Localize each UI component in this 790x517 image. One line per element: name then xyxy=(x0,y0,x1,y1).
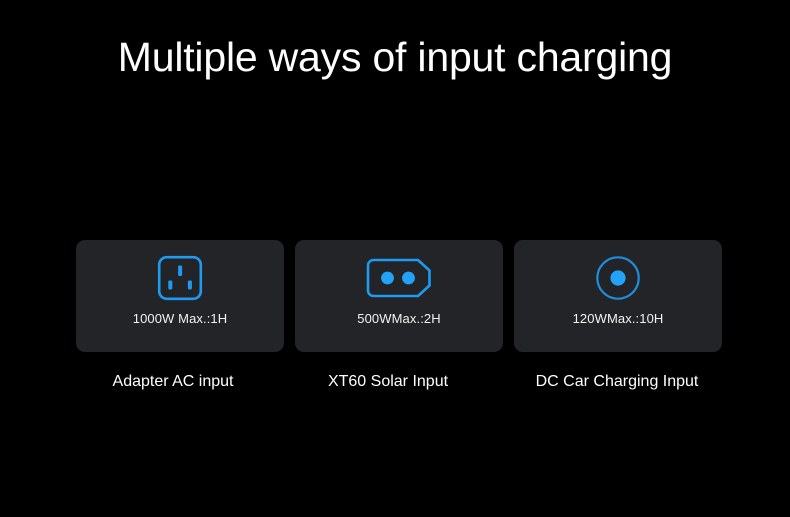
charging-card-value: 1000W Max.:1H xyxy=(133,311,228,326)
charging-card-adapter-ac[interactable]: 1000W Max.:1H xyxy=(76,240,284,352)
charging-caption-adapter-ac: Adapter AC input xyxy=(113,370,234,394)
uk-ac-socket-icon xyxy=(157,254,203,302)
page-title: Multiple ways of input charging xyxy=(0,28,790,86)
charging-caption-xt60-solar: XT60 Solar Input xyxy=(328,370,448,394)
charging-card-xt60-solar[interactable]: 500WMax.:2H xyxy=(295,240,503,352)
charging-card-value: 500WMax.:2H xyxy=(357,311,440,326)
charging-caption-dc-car: DC Car Charging Input xyxy=(536,370,699,394)
input-charging-section: Multiple ways of input charging 1000W Ma… xyxy=(0,0,790,517)
xt60-connector-icon xyxy=(366,254,432,302)
dc-car-socket-icon xyxy=(595,254,641,302)
charging-card-value: 120WMax.:10H xyxy=(573,311,664,326)
charging-card-dc-car[interactable]: 120WMax.:10H xyxy=(514,240,722,352)
charging-captions-row: Adapter AC input XT60 Solar Input DC Car… xyxy=(76,370,722,400)
charging-options-row: 1000W Max.:1H 500WMax.:2H 120WMax.:10 xyxy=(76,240,722,352)
